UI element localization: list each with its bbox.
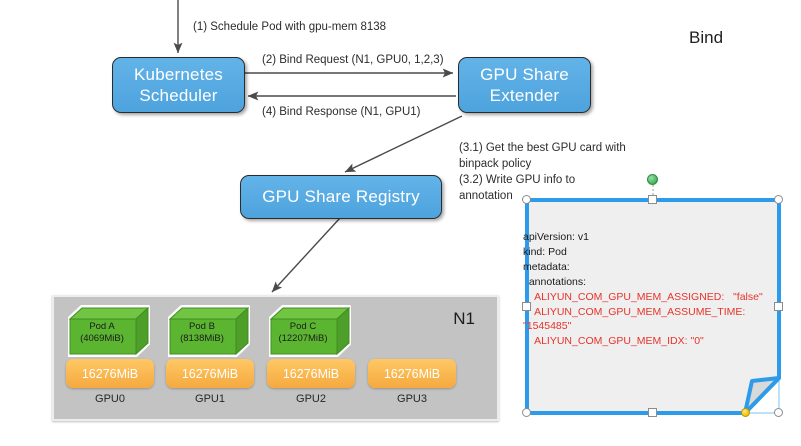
extender-label-line1: GPU Share xyxy=(480,64,569,85)
kubernetes-scheduler-box[interactable]: Kubernetes Scheduler xyxy=(112,57,245,113)
resize-handle-top-left[interactable] xyxy=(522,195,531,204)
gpu-share-extender-box[interactable]: GPU Share Extender xyxy=(458,57,591,113)
scheduler-label-line2: Scheduler xyxy=(134,85,223,106)
resize-handle-top-center[interactable] xyxy=(648,195,657,204)
gpu-column-1: Pod B (8138MiB) 16276MiB GPU1 xyxy=(164,297,262,419)
diagram-canvas: Kubernetes Scheduler GPU Share Extender … xyxy=(0,0,801,446)
gpu-column-3: 16276MiB GPU3 xyxy=(366,297,464,419)
resize-handle-middle-right[interactable] xyxy=(774,302,783,311)
arrow-registry-to-node xyxy=(272,218,340,292)
yaml-line-assume-time-value: "1545485" xyxy=(523,320,571,332)
scheduler-label-line1: Kubernetes xyxy=(134,64,223,85)
pod-cube-a[interactable]: Pod A (4069MiB) xyxy=(68,305,150,357)
bind-title-label: Bind xyxy=(689,28,723,48)
resize-handle-middle-left[interactable] xyxy=(522,302,531,311)
extender-label-line2: Extender xyxy=(480,85,569,106)
gpu-column-2: Pod C (12207MiB) 16276MiB GPU2 xyxy=(265,297,363,419)
gpu-2-memory-bar[interactable]: 16276MiB xyxy=(267,359,355,388)
gpu-share-registry-box[interactable]: GPU Share Registry xyxy=(240,175,442,219)
registry-box-label: GPU Share Registry xyxy=(262,186,420,207)
gpu-0-name-label: GPU0 xyxy=(64,393,156,405)
gpu-3-memory-bar[interactable]: 16276MiB xyxy=(368,359,456,388)
node-n1-panel: N1 Pod A (4069MiB) 16276MiB GPU0 xyxy=(52,295,499,421)
yaml-line-mem-assigned: ALIYUN_COM_GPU_MEM_ASSIGNED: "false" xyxy=(523,291,763,303)
pod-cube-b[interactable]: Pod B (8138MiB) xyxy=(168,305,250,357)
gpu-3-name-label: GPU3 xyxy=(366,393,458,405)
gpu-column-0: Pod A (4069MiB) 16276MiB GPU0 xyxy=(64,297,162,419)
label-step-3-1-line1: (3.1) Get the best GPU card with xyxy=(459,141,629,157)
yaml-line-metadata: metadata: xyxy=(523,261,570,273)
pod-annotation-shape[interactable]: apiVersion: v1 kind: Pod metadata: annot… xyxy=(505,165,801,431)
resize-handle-bottom-center[interactable] xyxy=(648,408,657,417)
rotation-handle[interactable] xyxy=(647,174,658,185)
folded-corner-flap xyxy=(745,378,779,413)
pod-cube-c[interactable]: Pod C (12207MiB) xyxy=(269,305,351,357)
resize-handle-top-right[interactable] xyxy=(774,195,783,204)
arrow-extender-to-registry xyxy=(345,116,462,172)
resize-handle-bottom-right[interactable] xyxy=(774,408,783,417)
extender-box-label: GPU Share Extender xyxy=(480,64,569,107)
label-step-4-bind-response: (4) Bind Response (N1, GPU1) xyxy=(262,105,421,121)
resize-handle-bottom-left[interactable] xyxy=(522,408,531,417)
gpu-1-name-label: GPU1 xyxy=(164,393,256,405)
yaml-line-annotations: annotations: xyxy=(523,276,586,288)
label-step-2-bind-request: (2) Bind Request (N1, GPU0, 1,2,3) xyxy=(262,53,444,69)
scheduler-box-label: Kubernetes Scheduler xyxy=(134,64,223,107)
fold-adjust-handle[interactable] xyxy=(741,408,750,417)
yaml-line-mem-assume-time: ALIYUN_COM_GPU_MEM_ASSUME_TIME: xyxy=(523,306,745,318)
yaml-line-apiversion: apiVersion: v1 xyxy=(523,231,589,243)
yaml-line-mem-idx: ALIYUN_COM_GPU_MEM_IDX: "0" xyxy=(523,335,704,347)
gpu-1-memory-bar[interactable]: 16276MiB xyxy=(166,359,254,388)
label-step-1-schedule-pod: (1) Schedule Pod with gpu-mem 8138 xyxy=(193,20,386,36)
pod-yaml-text: apiVersion: v1 kind: Pod metadata: annot… xyxy=(523,230,789,349)
yaml-line-kind: kind: Pod xyxy=(523,246,567,258)
gpu-0-memory-bar[interactable]: 16276MiB xyxy=(66,359,154,388)
gpu-2-name-label: GPU2 xyxy=(265,393,357,405)
